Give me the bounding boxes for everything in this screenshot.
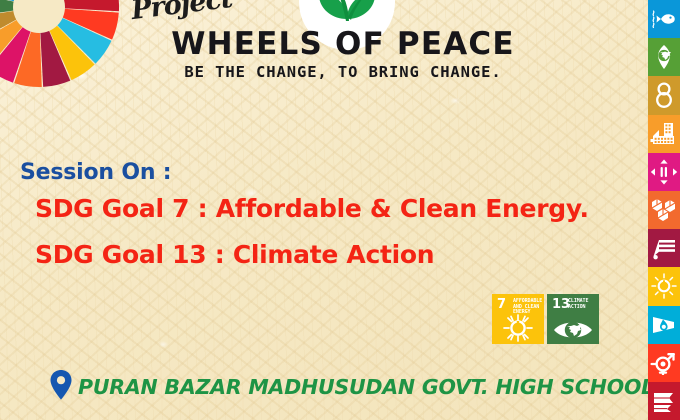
sdg-strip-tile-17[interactable]: [648, 76, 680, 114]
sdg-strip-tile-11[interactable]: [648, 115, 680, 153]
sdg-colour-wheel: [0, 0, 124, 92]
eye-globe-icon: [547, 317, 599, 343]
poster-tagline: BE THE CHANGE, TO BRING CHANGE.: [163, 63, 523, 81]
sdg-badge-13-title: CLIMATE ACTION: [568, 299, 598, 310]
sdg-strip-tile-14[interactable]: [648, 0, 680, 38]
sdg-badge-group: 7 AFFORDABLE AND CLEAN ENERGY: [492, 294, 599, 344]
sdg-strip-tile-9[interactable]: [648, 191, 680, 229]
interlocking-circles-icon: [653, 81, 675, 109]
sdg-badge-7-number: 7: [497, 298, 506, 311]
water-drop-arrow-icon: [650, 314, 678, 336]
sdg-badge-13: 13 CLIMATE ACTION: [547, 294, 599, 344]
sdg-strip-tile-7[interactable]: [648, 267, 680, 305]
sdg-strip-tile-4[interactable]: [648, 382, 680, 420]
sdg-strip-tile-5[interactable]: [648, 344, 680, 382]
open-book-icon: [651, 389, 677, 413]
sdg-strip-tile-8[interactable]: [648, 229, 680, 267]
project-script-word: Project: [129, 0, 233, 26]
map-pin-icon: [50, 370, 72, 400]
sun-icon: [492, 313, 544, 343]
fish-icon: [651, 7, 677, 31]
poster-canvas: Project WHEELS OF PEACE BE THE CHANGE, T…: [0, 0, 680, 420]
gender-equality-icon: [650, 351, 678, 375]
city-buildings-icon: [650, 121, 678, 147]
hexagon-cubes-icon: [650, 198, 678, 222]
growth-arrow-icon: [651, 236, 677, 260]
location-text: PURAN BAZAR MADHUSUDAN GOVT. HIGH SCHOOL…: [78, 375, 662, 399]
sun-icon: [651, 273, 677, 299]
equals-arrows-icon: [650, 159, 678, 185]
sdg-badge-7: 7 AFFORDABLE AND CLEAN ENERGY: [492, 294, 544, 344]
leaf-globe-icon: [652, 44, 676, 70]
sdg-strip-tile-15[interactable]: [648, 38, 680, 76]
sdg-strip-tile-10[interactable]: [648, 153, 680, 191]
session-label: Session On :: [20, 160, 171, 185]
poster-title: WHEELS OF PEACE: [163, 28, 523, 60]
sdg-goal-line-7: SDG Goal 7 : Affordable & Clean Energy.: [35, 194, 589, 223]
sdg-icon-strip: [648, 0, 680, 420]
sdg-strip-tile-6[interactable]: [648, 306, 680, 344]
sdg-goal-line-13: SDG Goal 13 : Climate Action: [35, 240, 434, 269]
